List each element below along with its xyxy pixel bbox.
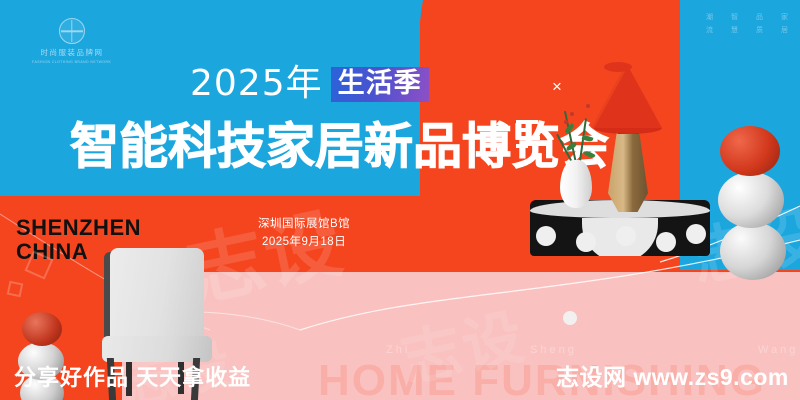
mark-3-2: 质: [756, 27, 763, 34]
season-badge: 生活季: [331, 67, 429, 102]
logo-name-cn: 时尚服装品牌网: [41, 47, 104, 58]
mark-1-1: 潮: [706, 14, 713, 21]
mark-column-4: 家 居: [781, 14, 788, 34]
brand-logo[interactable]: 时尚服装品牌网 FASHION CLOTHING BRAND NETWORK: [24, 18, 120, 64]
product-scene: [520, 48, 800, 253]
location-line-1: SHENZHEN: [16, 216, 141, 240]
mark-2-2: 慧: [731, 27, 738, 34]
mark-column-3: 品 质: [756, 14, 763, 34]
venue-info: 深圳国际展馆B馆 2025年9月18日: [258, 216, 350, 252]
bottom-slogan: 分享好作品 天天拿收益: [14, 360, 251, 392]
ceramic-vase: [560, 160, 592, 208]
decorative-square-2: [7, 281, 24, 298]
mark-4-2: 居: [781, 27, 788, 34]
mark-4-1: 家: [781, 14, 788, 21]
subtitle-row: 2025年 生活季: [190, 66, 429, 102]
site-watermark[interactable]: 志设网 www.zs9.com: [556, 358, 789, 392]
venue-date: 2025年9月18日: [258, 234, 350, 252]
mark-2-1: 智: [731, 14, 738, 21]
lamp-body: [608, 126, 648, 212]
lamp-shade: [594, 66, 662, 128]
mark-1-2: 流: [706, 27, 713, 34]
watermark-pinyin-3: Wang: [758, 344, 798, 356]
site-watermark-cn: 志设网: [556, 364, 627, 390]
globe-icon: [59, 18, 85, 44]
poster-canvas: HOME FURNISHING 志设 志设 志设 志设 Zhi Sheng Wa…: [0, 0, 800, 400]
sphere-red-top: [720, 126, 780, 176]
site-watermark-url: www.zs9.com: [633, 364, 788, 390]
mark-3-1: 品: [756, 14, 763, 21]
logo-name-en: FASHION CLOTHING BRAND NETWORK: [32, 60, 111, 64]
watermark-pinyin-1: Zhi: [386, 344, 410, 356]
mark-column-1: 潮 流: [706, 14, 713, 34]
sphere-grey-bottom: [720, 222, 786, 280]
mini-sphere-red-top: [22, 312, 62, 346]
chair-backrest: [110, 248, 204, 340]
sphere-grey-middle: [718, 172, 784, 228]
year-text: 2025年: [190, 66, 323, 102]
mark-column-2: 智 慧: [731, 14, 738, 34]
lamp-shade-cap: [604, 62, 632, 72]
venue-hall: 深圳国际展馆B馆: [258, 216, 350, 234]
top-right-mark-grid: 潮 流 智 慧 品 质 家 居: [706, 14, 788, 34]
watermark-pinyin-2: Sheng: [530, 344, 577, 356]
